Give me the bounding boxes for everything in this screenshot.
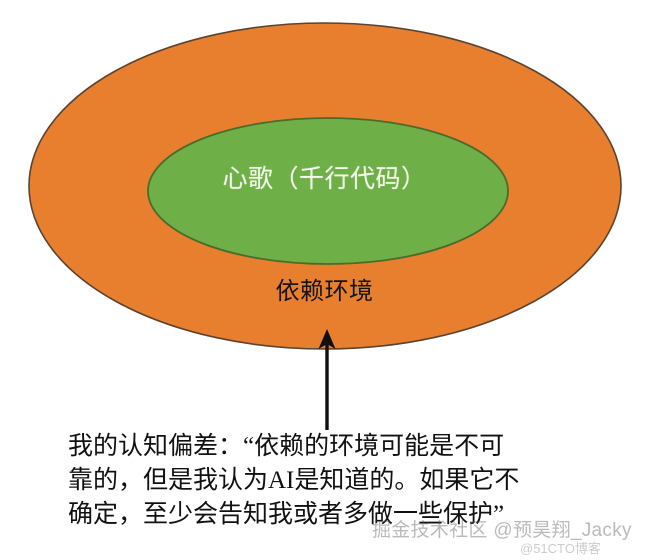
caption-line-2: 靠的，但是我认为AI是知道的。如果它不: [68, 464, 628, 498]
watermark-subtext: @51CTO博客: [520, 538, 601, 557]
watermark-text: 掘金技术社区 @预昊翔_Jacky: [372, 520, 649, 542]
caption-line-1: 我的认知偏差：“依赖的环境可能是不可: [68, 430, 628, 464]
inner-ellipse-xinge: [148, 118, 508, 264]
caption-block: 我的认知偏差：“依赖的环境可能是不可 靠的，但是我认为AI是知道的。如果它不 确…: [68, 430, 628, 532]
diagram-canvas: 心歌（千行代码） 依赖环境 我的认知偏差：“依赖的环境可能是不可 靠的，但是我认…: [0, 0, 649, 560]
callout-arrow: [319, 329, 336, 430]
